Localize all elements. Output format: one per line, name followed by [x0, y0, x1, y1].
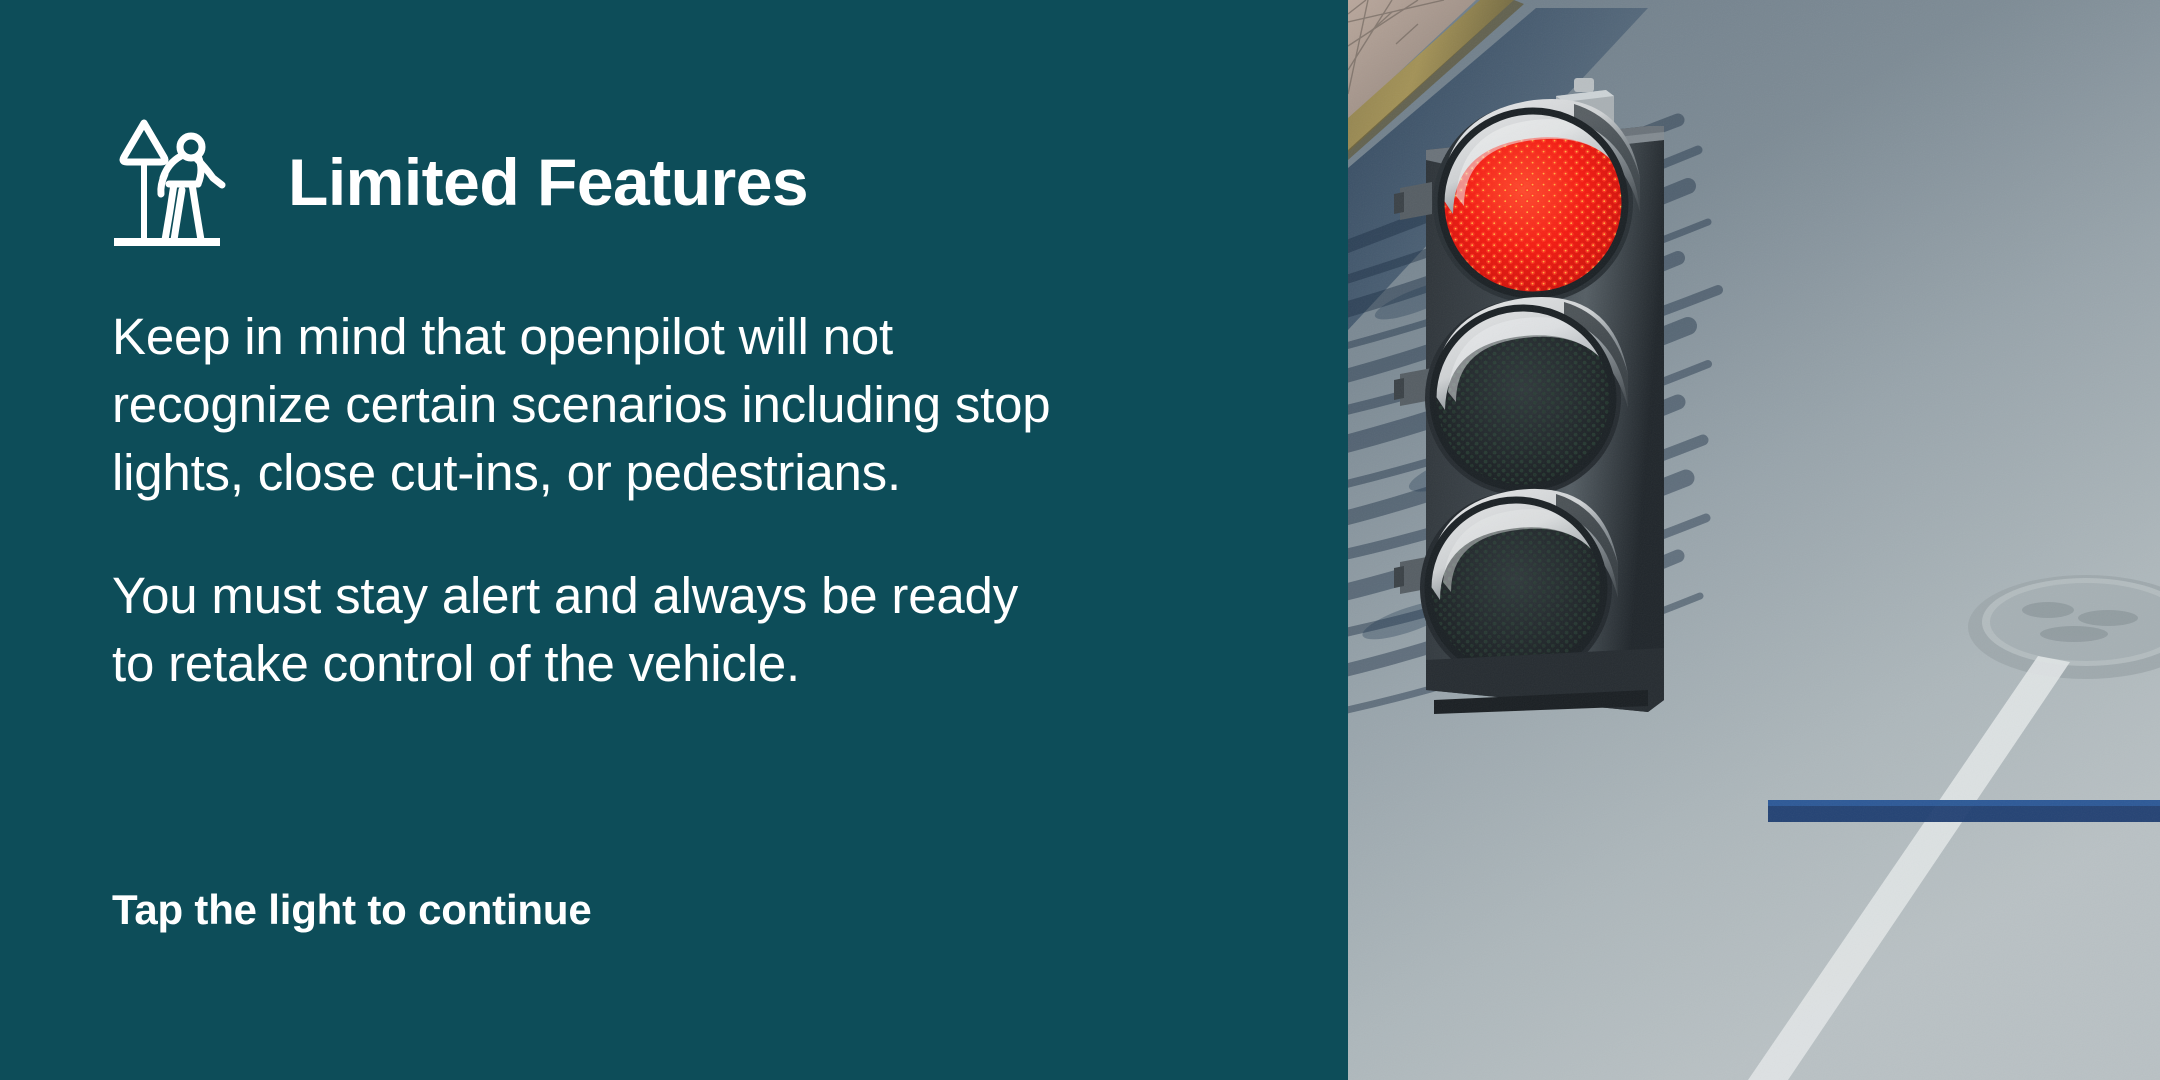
traffic-light-image[interactable] — [1348, 0, 2160, 1080]
paragraph-limitations: Keep in mind that openpilot will not rec… — [112, 303, 1262, 506]
paragraph-driver-attention: You must stay alert and always be ready … — [112, 562, 1262, 698]
body-copy: Keep in mind that openpilot will not rec… — [112, 303, 1262, 698]
traffic-light-photo[interactable] — [1348, 0, 2160, 1080]
limited-features-screen: Limited Features Keep in mind that openp… — [0, 0, 2160, 1080]
pedestrian-crossing-icon — [112, 112, 254, 252]
info-panel: Limited Features Keep in mind that openp… — [0, 0, 1348, 1080]
tap-to-continue-label: Tap the light to continue — [112, 886, 592, 934]
photo-grain — [1348, 0, 2160, 1080]
page-title: Limited Features — [288, 149, 808, 215]
header: Limited Features — [112, 112, 808, 252]
